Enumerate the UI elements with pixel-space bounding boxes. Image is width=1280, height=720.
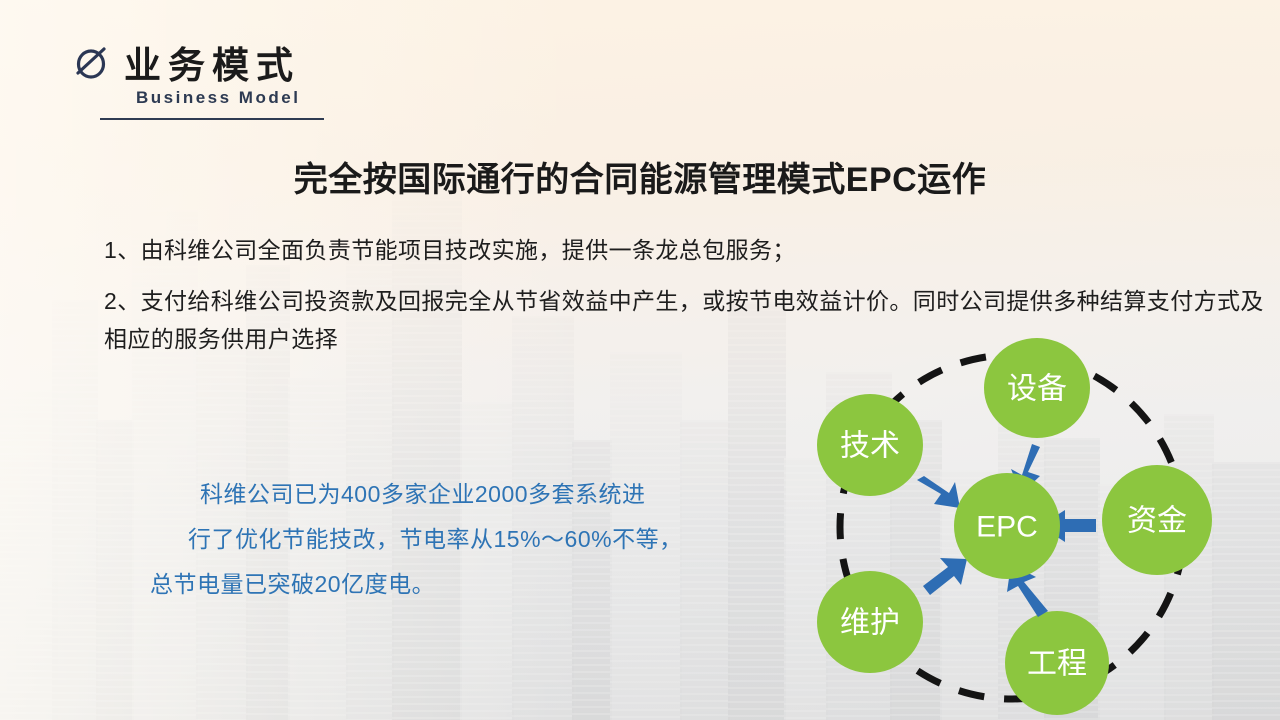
node-label-engineering: 工程 — [1027, 648, 1087, 681]
node-label-funding: 资金 — [1127, 505, 1187, 538]
diagram-node-engineering: 工程 — [1005, 611, 1109, 715]
epc-cycle-diagram: 技术 设备 资金 工程 维护 — [800, 330, 1270, 720]
node-label-equipment: 设备 — [1007, 373, 1067, 406]
node-label-epc: EPC — [976, 511, 1038, 544]
node-label-maintenance: 维护 — [840, 607, 900, 640]
slashed-circle-icon — [70, 40, 112, 82]
diagram-node-funding: 资金 — [1102, 465, 1212, 575]
diagram-node-equipment: 设备 — [984, 338, 1090, 438]
diagram-node-maintenance: 维护 — [817, 571, 923, 673]
highlight-line-3: 总节电量已突破20亿度电。 — [150, 562, 770, 607]
title-divider — [100, 118, 324, 120]
slide: 业务模式 Business Model ecowell 科维 完全按国际通行的合… — [0, 0, 1280, 720]
highlight-line-1: 科维公司已为400多家企业2000多套系统进 — [150, 472, 770, 517]
page-subtitle: Business Model — [136, 88, 300, 108]
body-item-1: 1、由科维公司全面负责节能项目技改实施，提供一条龙总包服务； — [104, 232, 1264, 269]
highlight-statistics: 科维公司已为400多家企业2000多套系统进 行了优化节能技改，节电率从15%～… — [150, 472, 770, 607]
diagram-node-technology: 技术 — [817, 394, 923, 496]
arrow-maintenance-to-epc — [923, 558, 967, 595]
highlight-line-2: 行了优化节能技改，节电率从15%～60%不等， — [150, 517, 770, 562]
diagram-node-epc: EPC — [954, 473, 1060, 579]
page-title: 业务模式 — [124, 35, 300, 89]
headline: 完全按国际通行的合同能源管理模式EPC运作 — [0, 152, 1280, 201]
node-label-technology: 技术 — [840, 430, 900, 463]
arrow-technology-to-epc — [917, 476, 960, 508]
